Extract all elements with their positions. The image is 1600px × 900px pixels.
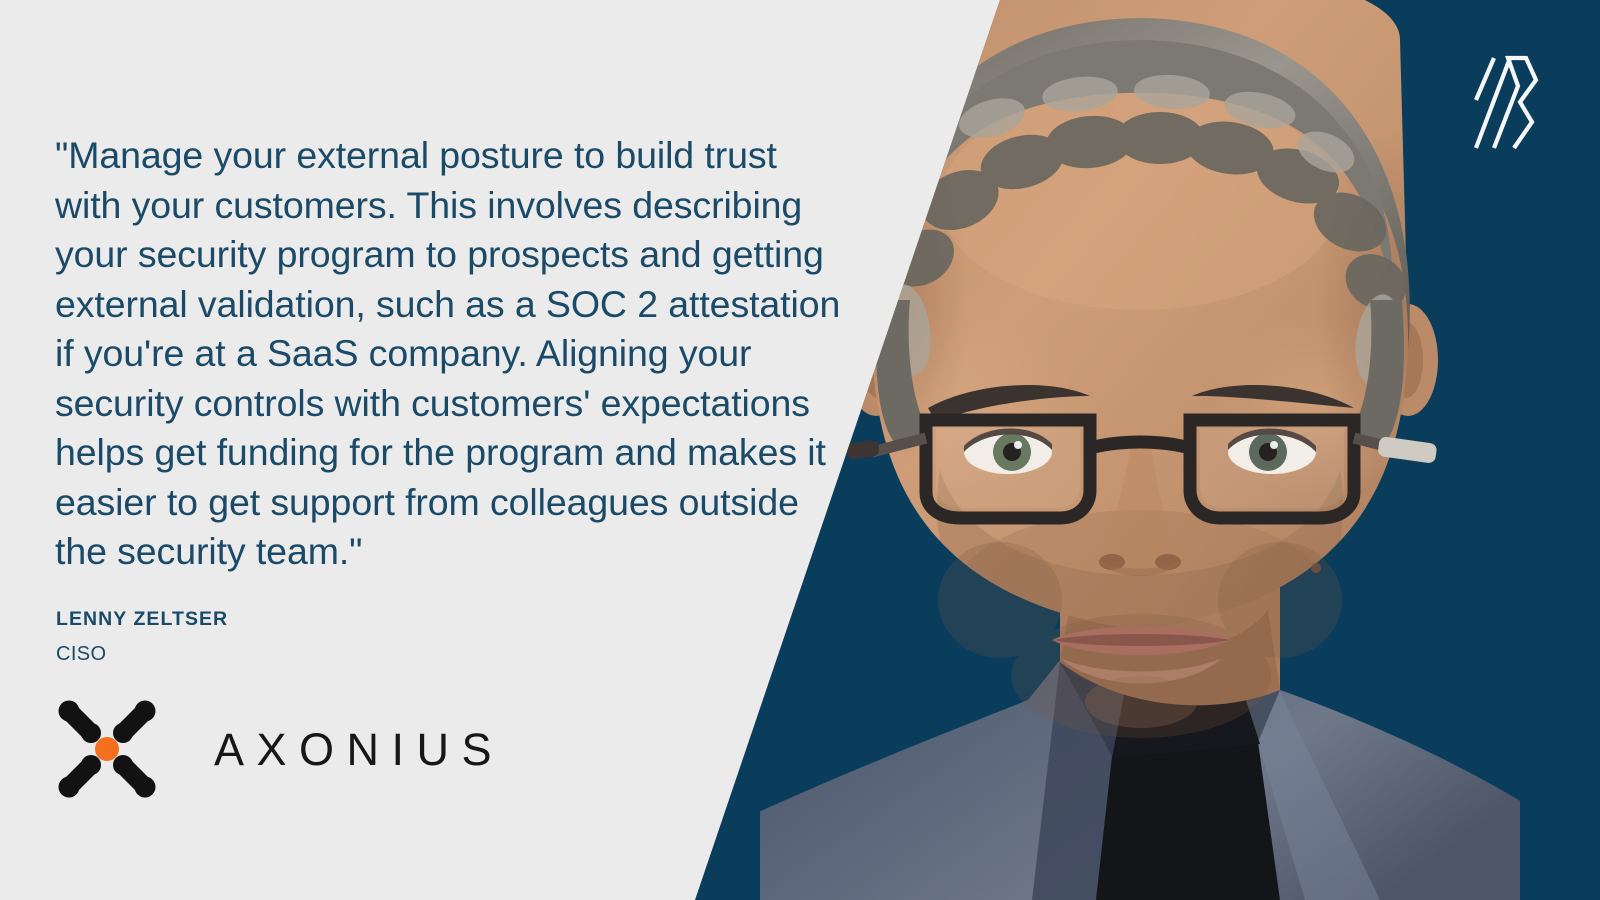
- axonius-logo-lockup: AXONIUS: [55, 697, 504, 801]
- axonius-b-monogram-watermark-icon: [1448, 52, 1540, 152]
- portrait-image: [760, 0, 1520, 900]
- attribution-name: LENNY ZELTSER: [56, 608, 228, 631]
- quote-text: "Manage your external posture to build t…: [55, 131, 845, 577]
- quote-column: "Manage your external posture to build t…: [55, 0, 845, 900]
- axonius-wordmark: AXONIUS: [214, 727, 504, 772]
- attribution-role: CISO: [56, 643, 107, 666]
- axonius-x-nodes-icon: [55, 697, 159, 801]
- quote-card: "Manage your external posture to build t…: [0, 0, 1600, 900]
